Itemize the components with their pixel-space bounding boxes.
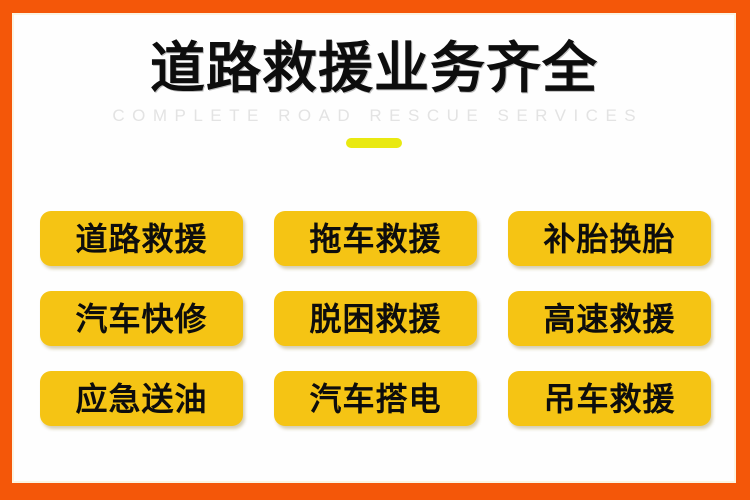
service-button-label: 道路救援: [75, 222, 207, 256]
service-button-label: 吊车救援: [543, 382, 675, 416]
service-button-crane-rescue[interactable]: 吊车救援: [508, 371, 711, 426]
frame-border-bottom: [0, 483, 750, 500]
frame-border-left: [0, 0, 12, 500]
service-button-label: 汽车搭电: [309, 382, 441, 416]
poster-content-area: 道路救援业务齐全 COMPLETE ROAD RESCUE SERVICES 道…: [14, 15, 734, 481]
page-subtitle: COMPLETE ROAD RESCUE SERVICES: [14, 106, 734, 126]
service-button-jump-start[interactable]: 汽车搭电: [274, 371, 477, 426]
heading-block: 道路救援业务齐全 COMPLETE ROAD RESCUE SERVICES: [14, 37, 734, 148]
service-button-quick-car-repair[interactable]: 汽车快修: [40, 291, 243, 346]
service-button-label: 应急送油: [75, 382, 207, 416]
service-button-emergency-fuel-delivery[interactable]: 应急送油: [40, 371, 243, 426]
service-button-label: 脱困救援: [309, 302, 441, 336]
service-button-tire-repair-change[interactable]: 补胎换胎: [508, 211, 711, 266]
service-button-grid: 道路救援 拖车救援 补胎换胎 汽车快修 脱困救援 高速救援 应急送油 汽车搭电: [40, 211, 712, 426]
service-button-label: 汽车快修: [75, 302, 207, 336]
frame-border-right: [736, 0, 750, 500]
road-rescue-poster: 道路救援业务齐全 COMPLETE ROAD RESCUE SERVICES 道…: [0, 0, 750, 500]
service-button-label: 高速救援: [543, 302, 675, 336]
service-button-extrication-rescue[interactable]: 脱困救援: [274, 291, 477, 346]
service-button-highway-rescue[interactable]: 高速救援: [508, 291, 711, 346]
service-button-label: 补胎换胎: [543, 222, 675, 256]
service-button-road-rescue[interactable]: 道路救援: [40, 211, 243, 266]
service-button-label: 拖车救援: [309, 222, 441, 256]
page-title: 道路救援业务齐全: [14, 37, 734, 99]
divider: [14, 138, 734, 148]
service-button-tow-rescue[interactable]: 拖车救援: [274, 211, 477, 266]
divider-pill: [346, 138, 402, 148]
frame-border-top: [0, 0, 750, 13]
